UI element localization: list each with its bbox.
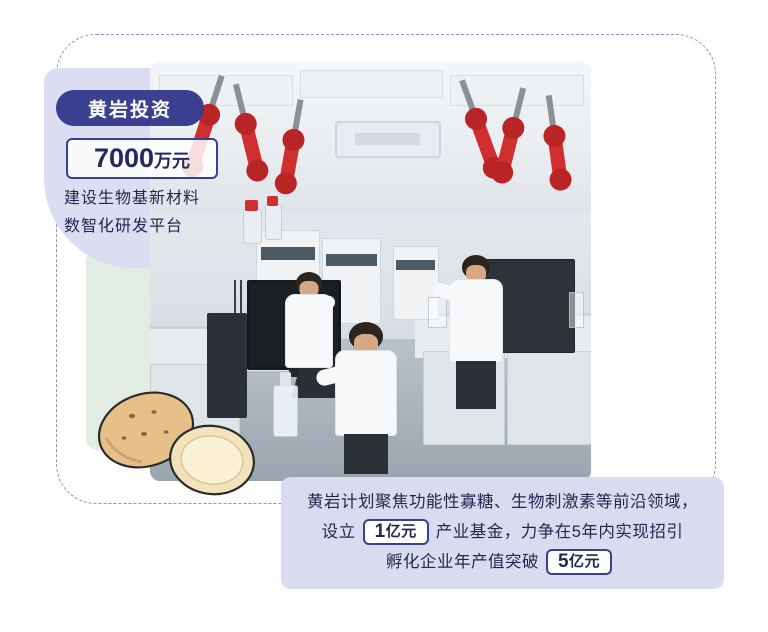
- person-standing-researcher-right: [437, 255, 516, 423]
- caption-line-1-text: 黄岩计划聚焦功能性寡糖、生物刺激素等前沿领域，: [307, 487, 698, 517]
- infographic-canvas: 黄岩投资 7000万元 建设生物基新材料 数智化研发平台 黄岩计划聚焦功能性寡糖…: [0, 0, 768, 632]
- fund-amount-chip: 1亿元: [363, 519, 429, 545]
- person-standing-researcher-left: [273, 272, 344, 414]
- air-conditioner-icon: [335, 121, 440, 159]
- caption-line-2-suffix: 产业基金，力争在5年内实现招引: [436, 517, 684, 547]
- caption-line-2: 设立 1亿元 产业基金，力争在5年内实现招引: [295, 517, 710, 547]
- investment-amount-box: 7000万元: [66, 138, 218, 179]
- potato-illustration: [84, 372, 274, 502]
- reagent-bottle: [265, 204, 282, 240]
- output-value-chip: 5亿元: [546, 549, 612, 575]
- person-trousers: [456, 361, 496, 409]
- cable: [240, 280, 242, 314]
- cable: [234, 280, 236, 314]
- investment-badge: 黄岩投资: [56, 90, 204, 126]
- glassware: [569, 292, 584, 328]
- person-lab-coat: [335, 350, 397, 436]
- caption-line-3: 孵化企业年产值突破 5亿元: [295, 547, 710, 577]
- left-info-card: 黄岩投资 7000万元 建设生物基新材料 数智化研发平台: [40, 80, 234, 250]
- ceiling-panel: [300, 70, 443, 97]
- output-value-number: 5: [558, 547, 569, 577]
- fund-amount-unit: 亿元: [386, 517, 417, 547]
- investment-desc-line-1: 建设生物基新材料: [64, 184, 200, 208]
- bench-cabinet: [507, 351, 591, 445]
- reagent-bottle: [243, 209, 263, 245]
- person-trousers: [344, 434, 388, 474]
- bottle-cap: [245, 200, 257, 210]
- caption-line-3-prefix: 孵化企业年产值突破: [386, 547, 539, 577]
- investment-desc-line-2: 数智化研发平台: [64, 212, 183, 236]
- caption-line-1: 黄岩计划聚焦功能性寡糖、生物刺激素等前沿领域，: [295, 487, 710, 517]
- caption-card: 黄岩计划聚焦功能性寡糖、生物刺激素等前沿领域， 设立 1亿元 产业基金，力争在5…: [281, 477, 724, 589]
- fund-amount-number: 1: [375, 517, 386, 547]
- instrument-display: [326, 254, 376, 266]
- instrument-display: [396, 260, 435, 270]
- caption-line-2-prefix: 设立: [322, 517, 356, 547]
- bottle-cap: [267, 196, 278, 206]
- output-value-unit: 亿元: [569, 547, 600, 577]
- investment-amount-unit: 万元: [154, 151, 190, 171]
- instrument-display: [261, 247, 315, 260]
- investment-amount-number: 7000: [94, 143, 154, 173]
